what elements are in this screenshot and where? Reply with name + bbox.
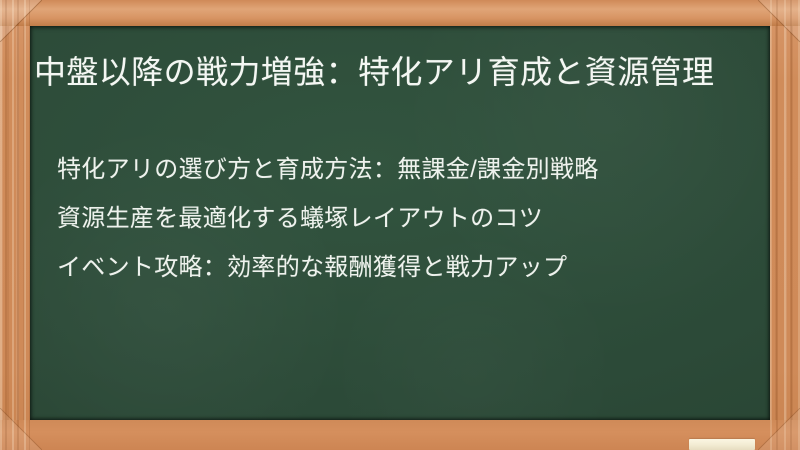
frame-rail-right [770, 0, 800, 450]
frame-rail-bottom [0, 420, 800, 450]
frame-rail-top [0, 0, 800, 26]
slide-title: 中盤以降の戦力増強：特化アリ育成と資源管理 [34, 52, 724, 94]
list-item: 特化アリの選び方と育成方法：無課金/課金別戦略 [57, 154, 722, 187]
slide-bullet-list: 特化アリの選び方と育成方法：無課金/課金別戦略 資源生産を最適化する蟻塚レイアウ… [57, 154, 722, 285]
slide-content: 中盤以降の戦力増強：特化アリ育成と資源管理 特化アリの選び方と育成方法：無課金/… [30, 26, 770, 420]
chalkboard-slide: 中盤以降の戦力増強：特化アリ育成と資源管理 特化アリの選び方と育成方法：無課金/… [0, 0, 800, 450]
list-item: 資源生産を最適化する蟻塚レイアウトのコツ [57, 203, 722, 236]
chalk-stick-icon [689, 439, 755, 450]
list-item: イベント攻略：効率的な報酬獲得と戦力アップ [57, 252, 722, 285]
chalkboard-surface: 中盤以降の戦力増強：特化アリ育成と資源管理 特化アリの選び方と育成方法：無課金/… [30, 26, 770, 420]
frame-rail-left [0, 0, 30, 450]
